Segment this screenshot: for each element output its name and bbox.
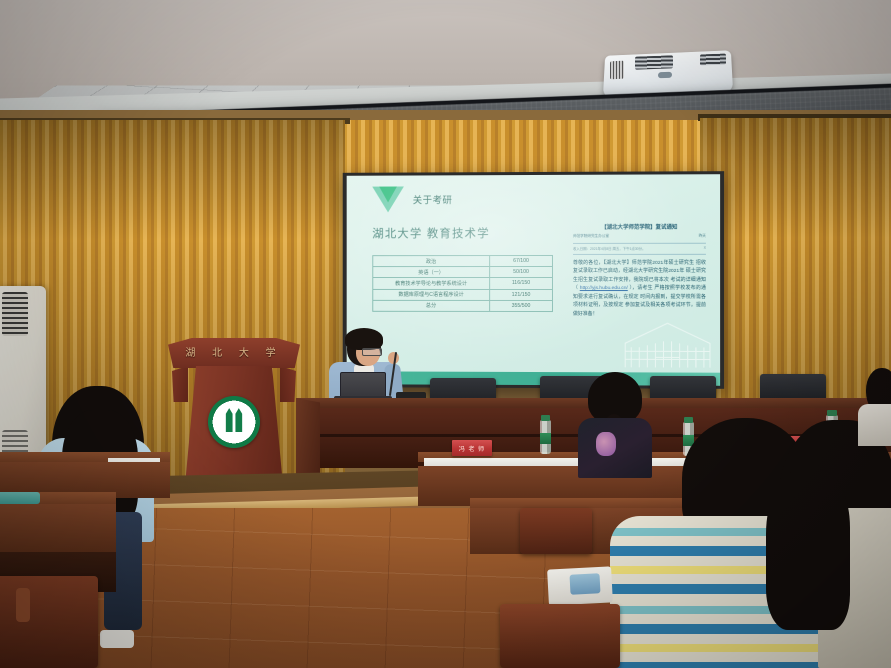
podium-engraving: 湖 北 大 学 (176, 344, 292, 359)
notice-meta: 收入日期：2021年4月8日 周五，下午1点30分。 X (573, 242, 706, 254)
score-subject: 政治 (373, 256, 490, 267)
slide-section-tag: 关于考研 (372, 186, 452, 212)
score-value: 355/500 (490, 300, 553, 311)
table-row: 教育技术学导论与教学系统设计 116/150 (373, 278, 553, 289)
score-value: 116/150 (490, 278, 553, 289)
notice-body: 尊敬的各位，【湖北大学】师范学院2021年硕士研究生 招收复试录取工作已启动，经… (573, 259, 706, 319)
bottle-cap-icon (827, 410, 837, 416)
chair-post (16, 588, 30, 622)
exam-score-table: 政治 67/100 英语（一） 50/100 教育技术学导论与教学系统设计 11… (372, 255, 553, 312)
score-subject: 教育技术学导论与教学系统设计 (373, 278, 490, 289)
notice-subheader: 师范学院研究生办公室 昨天 (573, 233, 706, 238)
score-subject: 英语（一） (373, 267, 490, 278)
audience-person-shoe (100, 630, 134, 648)
score-value: 50/100 (490, 267, 553, 278)
score-value: 67/100 (490, 255, 553, 266)
bottle-cap-icon (541, 415, 550, 421)
presentation-slide: 关于考研 湖北大学 教育技术学 政治 67/100 英语（一） 50/100 教… (347, 174, 720, 386)
notice-title: 【湖北大学师范学院】复试通知 (573, 223, 706, 231)
triangle-logo-icon (372, 186, 404, 212)
audience-person-hair-front (766, 470, 850, 630)
ac-vent-icon (2, 292, 28, 336)
projection-screen: 关于考研 湖北大学 教育技术学 政治 67/100 英语（一） 50/100 教… (343, 171, 724, 389)
table-row: 政治 67/100 (373, 255, 553, 266)
podium-wing (172, 366, 188, 402)
audience-chair (0, 576, 98, 668)
slide-notice-screenshot: 【湖北大学师范学院】复试通知 师范学院研究生办公室 昨天 收入日期：2021年4… (573, 223, 706, 320)
score-subject: 数据库原理与C语言程序设计 (373, 289, 490, 300)
projector-vent-icon (635, 55, 673, 69)
score-value: 121/150 (490, 289, 553, 300)
table-row: 总分 355/500 (373, 300, 553, 311)
notice-line: 尊敬的各位，【湖北大学】师范学院2021年硕士研究生 (573, 260, 694, 265)
projector-grille-icon (610, 61, 624, 80)
notice-line: ），请考生 (629, 286, 652, 291)
bottle-label (540, 433, 551, 444)
lecture-hall-photo: 关于考研 湖北大学 教育技术学 政治 67/100 英语（一） 50/100 教… (0, 0, 891, 668)
audience-person-torso (858, 404, 891, 446)
notice-link[interactable]: http://yjs.hubu.edu.cn/ (580, 286, 628, 291)
projector-vent-icon (700, 54, 726, 66)
table-row: 数据库原理与C语言程序设计 121/150 (373, 289, 553, 300)
audience-chair (500, 604, 620, 668)
podium-wing (280, 366, 296, 402)
notice-close-icon: X (704, 246, 706, 251)
slide-title: 湖北大学 教育技术学 (372, 225, 490, 241)
notice-sender: 师范学院研究生办公室 (573, 233, 609, 238)
desk-cloth-item (0, 492, 40, 504)
slide-tag-label: 关于考研 (413, 192, 453, 206)
smartphone[interactable] (569, 573, 600, 595)
table-row: 英语（一） 50/100 (373, 267, 553, 278)
notice-date: 昨天 (699, 233, 706, 238)
jacket-graphic (596, 432, 616, 456)
bottle-cap-icon (684, 417, 693, 423)
name-placard: 冯 老 师 (452, 440, 492, 456)
university-emblem-icon (208, 396, 260, 448)
campus-building-illustration (619, 317, 716, 370)
projector-lens-icon (658, 72, 672, 78)
notice-meta-text: 收入日期：2021年4月8日 周五，下午1点30分。 (573, 246, 646, 251)
presenter-hair (345, 328, 383, 350)
glasses-icon (362, 348, 382, 356)
score-subject: 总分 (373, 300, 490, 311)
audience-chair (520, 508, 592, 554)
audience-desk-panel (0, 504, 116, 554)
